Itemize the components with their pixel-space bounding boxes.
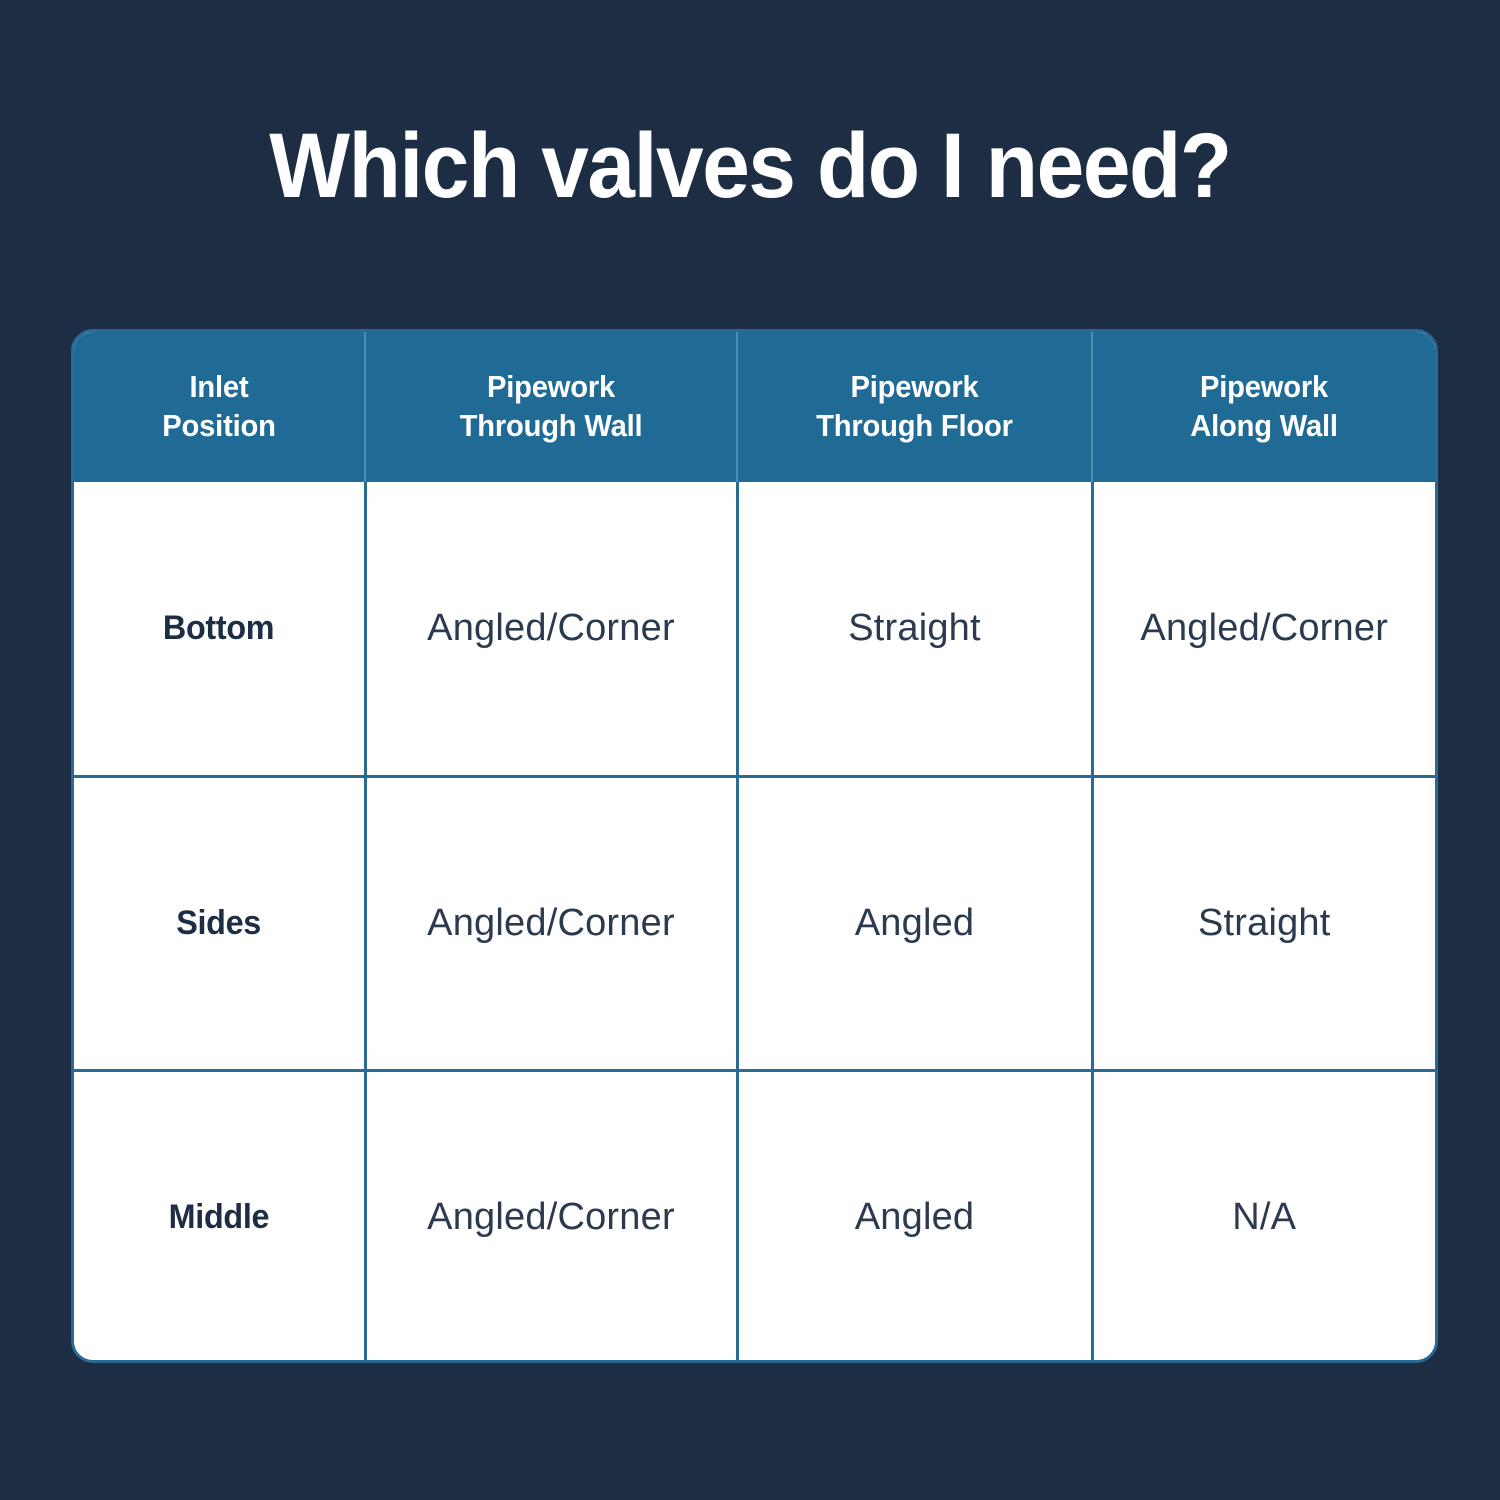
cell-sides-through-floor: Angled	[737, 776, 1092, 1070]
column-header-inlet-position: Inlet Position	[74, 332, 365, 482]
row-label-text: Bottom	[163, 609, 274, 648]
cell-value-text: Angled	[855, 1196, 975, 1239]
column-header-pipework-through-floor-line2: Through Floor	[756, 407, 1073, 446]
table-row: Sides Angled/Corner Angled Straight	[74, 776, 1435, 1070]
page-root: Which valves do I need? Inlet Position P…	[0, 0, 1500, 1500]
column-header-pipework-through-floor: Pipework Through Floor	[737, 332, 1092, 482]
cell-middle-through-wall: Angled/Corner	[365, 1070, 737, 1363]
row-label-bottom: Bottom	[74, 482, 365, 776]
cell-value-text: N/A	[1232, 1196, 1296, 1239]
column-header-inlet-position-line2: Position	[90, 407, 348, 446]
cell-value-text: Angled/Corner	[427, 1196, 675, 1239]
cell-value-text: Angled/Corner	[427, 902, 675, 945]
column-header-pipework-along-wall-line1: Pipework	[1111, 368, 1417, 407]
table-row: Bottom Angled/Corner Straight Angled/Cor…	[74, 482, 1435, 776]
table-row: Middle Angled/Corner Angled N/A	[74, 1070, 1435, 1363]
cell-bottom-along-wall: Angled/Corner	[1092, 482, 1435, 776]
column-header-pipework-through-wall: Pipework Through Wall	[365, 332, 737, 482]
column-header-pipework-through-wall-line1: Pipework	[385, 368, 718, 407]
table-body: Bottom Angled/Corner Straight Angled/Cor…	[74, 482, 1435, 1363]
cell-bottom-through-floor: Straight	[737, 482, 1092, 776]
cell-value-text: Angled/Corner	[427, 607, 675, 650]
cell-middle-through-floor: Angled	[737, 1070, 1092, 1363]
cell-value-text: Straight	[1198, 902, 1331, 945]
cell-bottom-through-wall: Angled/Corner	[365, 482, 737, 776]
table-header-row: Inlet Position Pipework Through Wall Pip…	[74, 332, 1435, 482]
page-title: Which valves do I need?	[53, 118, 1448, 215]
column-header-pipework-through-wall-line2: Through Wall	[385, 407, 718, 446]
column-header-inlet-position-line1: Inlet	[90, 368, 348, 407]
cell-sides-along-wall: Straight	[1092, 776, 1435, 1070]
row-label-sides: Sides	[74, 776, 365, 1070]
row-label-middle: Middle	[74, 1070, 365, 1363]
valve-selection-table-card: Inlet Position Pipework Through Wall Pip…	[71, 329, 1438, 1363]
row-label-text: Sides	[176, 904, 261, 943]
valve-selection-table: Inlet Position Pipework Through Wall Pip…	[74, 332, 1435, 1363]
column-header-pipework-through-floor-line1: Pipework	[756, 368, 1073, 407]
row-label-text: Middle	[168, 1198, 269, 1237]
cell-middle-along-wall: N/A	[1092, 1070, 1435, 1363]
cell-value-text: Angled	[855, 902, 975, 945]
cell-sides-through-wall: Angled/Corner	[365, 776, 737, 1070]
cell-value-text: Straight	[848, 607, 981, 650]
cell-value-text: Angled/Corner	[1140, 607, 1388, 650]
column-header-pipework-along-wall-line2: Along Wall	[1111, 407, 1417, 446]
column-header-pipework-along-wall: Pipework Along Wall	[1092, 332, 1435, 482]
table-header: Inlet Position Pipework Through Wall Pip…	[74, 332, 1435, 482]
